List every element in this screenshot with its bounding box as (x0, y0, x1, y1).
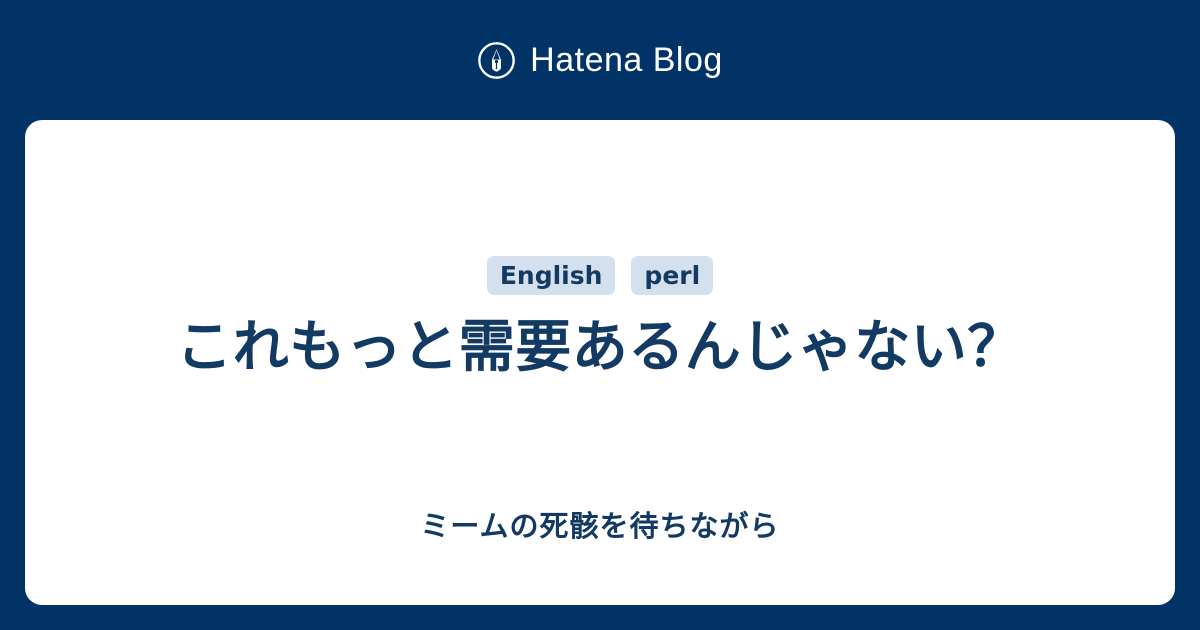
entry-tag-perl[interactable]: perl (631, 256, 713, 295)
entry-tag-english[interactable]: English (487, 256, 616, 295)
entry-title: これもっと需要あるんじゃない？ (25, 313, 1175, 383)
entry-card-inner: English perl これもっと需要あるんじゃない？ ミームの死骸を待ちなが… (25, 120, 1175, 605)
entry-tag-list: English perl (25, 256, 1175, 295)
hatena-blog-logo (477, 41, 516, 80)
entry-card: English perl これもっと需要あるんじゃない？ ミームの死骸を待ちなが… (25, 120, 1175, 605)
ogp-card-root: Hatena Blog English perl これもっと需要あるんじゃない？… (0, 0, 1200, 630)
brand-name: Hatena Blog (530, 43, 723, 77)
fountain-pen-nib-in-circle-icon (477, 41, 516, 80)
brand-header: Hatena Blog (0, 0, 1200, 120)
blog-name: ミームの死骸を待ちながら (25, 508, 1175, 546)
